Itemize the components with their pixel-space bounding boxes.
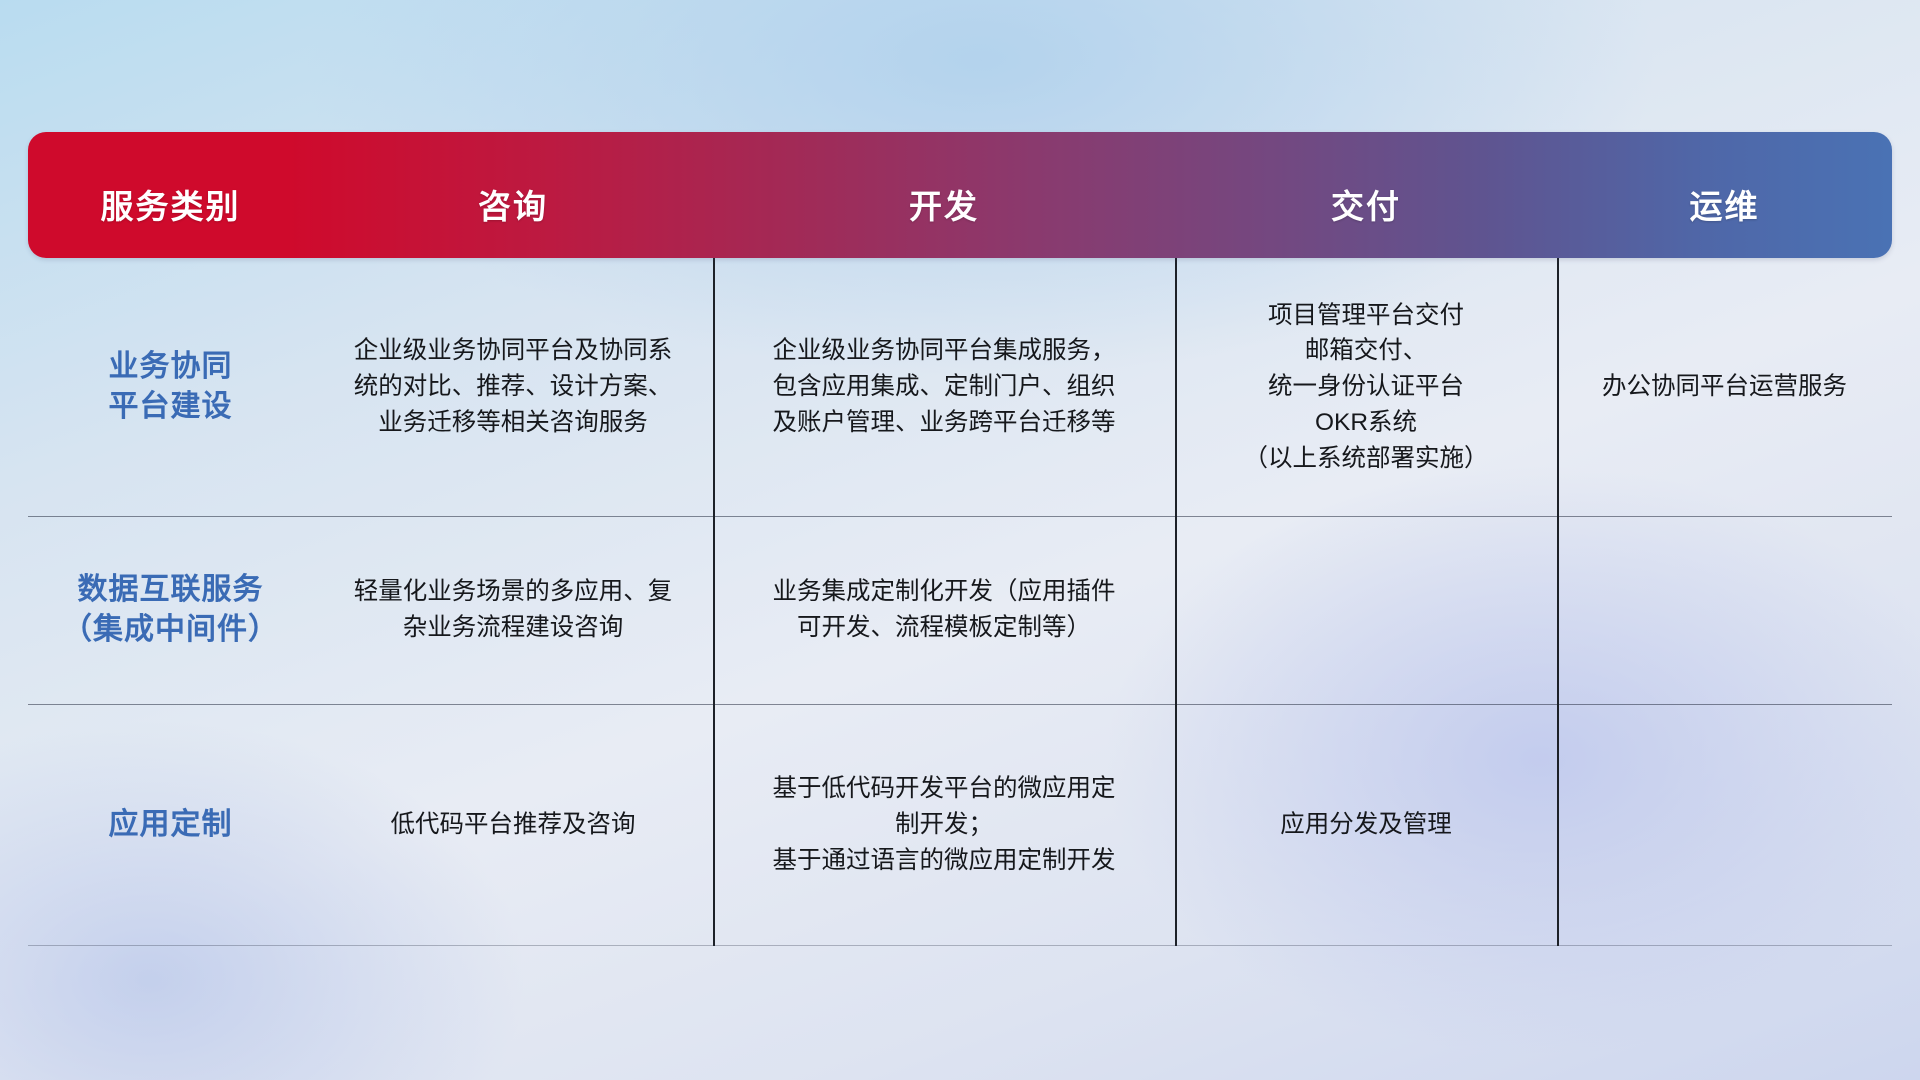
cell-delivery [1175, 516, 1557, 704]
column-header-consulting: 咨询 [313, 132, 713, 258]
cell-development: 企业级业务协同平台集成服务， 包含应用集成、定制门户、组织 及账户管理、业务跨平… [713, 258, 1175, 516]
service-category-table: 服务类别 咨询 开发 交付 运维 业务协同 平台建设 企业级业务协同平台及协同系… [28, 132, 1892, 946]
cell-consulting: 轻量化业务场景的多应用、复 杂业务流程建设咨询 [313, 516, 713, 704]
slide-canvas: 服务类别 咨询 开发 交付 运维 业务协同 平台建设 企业级业务协同平台及协同系… [0, 0, 1920, 1080]
table-row: 应用定制 低代码平台推荐及咨询 基于低代码开发平台的微应用定 制开发； 基于通过… [28, 704, 1892, 946]
cell-category: 数据互联服务 （集成中间件） [28, 516, 313, 704]
cell-development: 基于低代码开发平台的微应用定 制开发； 基于通过语言的微应用定制开发 [713, 704, 1175, 946]
table-row: 数据互联服务 （集成中间件） 轻量化业务场景的多应用、复 杂业务流程建设咨询 业… [28, 516, 1892, 704]
column-header-delivery: 交付 [1175, 132, 1557, 258]
column-header-operations: 运维 [1557, 132, 1892, 258]
cell-operations: 办公协同平台运营服务 [1557, 258, 1892, 516]
cell-operations [1557, 704, 1892, 946]
table-body: 业务协同 平台建设 企业级业务协同平台及协同系 统的对比、推荐、设计方案、 业务… [28, 248, 1892, 946]
cell-consulting: 企业级业务协同平台及协同系 统的对比、推荐、设计方案、 业务迁移等相关咨询服务 [313, 258, 713, 516]
table-header-row: 服务类别 咨询 开发 交付 运维 [28, 132, 1892, 258]
column-header-category: 服务类别 [28, 132, 313, 258]
cell-consulting: 低代码平台推荐及咨询 [313, 704, 713, 946]
cell-operations [1557, 516, 1892, 704]
cell-category: 应用定制 [28, 704, 313, 946]
cell-delivery: 项目管理平台交付 邮箱交付、 统一身份认证平台 OKR系统 （以上系统部署实施） [1175, 258, 1557, 516]
cell-delivery: 应用分发及管理 [1175, 704, 1557, 946]
table-row: 业务协同 平台建设 企业级业务协同平台及协同系 统的对比、推荐、设计方案、 业务… [28, 258, 1892, 516]
cell-development: 业务集成定制化开发（应用插件 可开发、流程模板定制等） [713, 516, 1175, 704]
cell-category: 业务协同 平台建设 [28, 258, 313, 516]
column-header-development: 开发 [713, 132, 1175, 258]
